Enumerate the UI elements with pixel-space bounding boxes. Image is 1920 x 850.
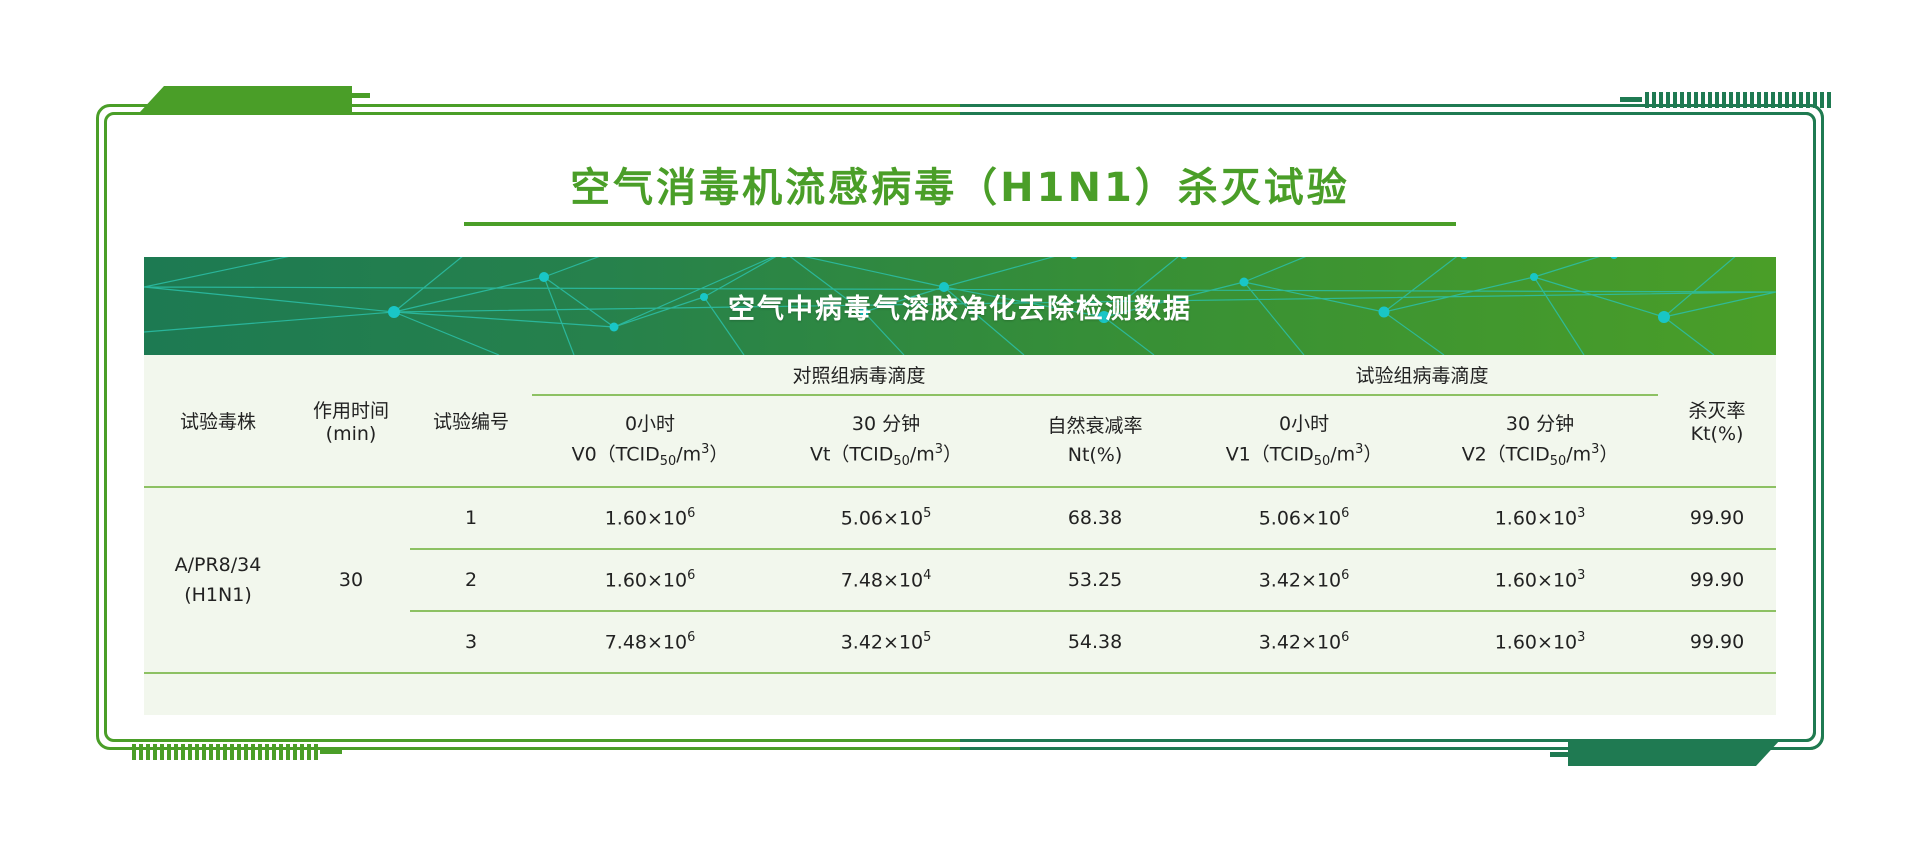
strain-line2: (H1N1) xyxy=(144,580,292,610)
cell-v2: 1.60×103 xyxy=(1422,549,1658,611)
cell-v0: 1.60×106 xyxy=(532,549,768,611)
cell-v0: 1.60×106 xyxy=(532,487,768,549)
vt-exponent: 4 xyxy=(923,568,931,583)
stripe-bottom-left-line xyxy=(320,749,342,754)
v0-exponent: 6 xyxy=(687,630,695,645)
v2-sub: 50 xyxy=(1550,454,1566,469)
th-control-vt-line2: Vt（TCID50/m3） xyxy=(768,440,1004,472)
banner: 空气中病毒气溶胶净化去除检测数据 xyxy=(144,257,1776,355)
vt-mantissa: 7.48×10 xyxy=(841,570,923,592)
v2-exponent: 3 xyxy=(1577,630,1585,645)
cell-v2: 1.60×103 xyxy=(1422,611,1658,673)
vt-mantissa: 3.42×10 xyxy=(841,632,923,654)
th-kill-rate-line2: Kt(%) xyxy=(1658,423,1776,445)
cell-strain: A/PR8/34 (H1N1) xyxy=(144,487,292,673)
v1-exponent: 6 xyxy=(1341,506,1349,521)
v0-mantissa: 7.48×10 xyxy=(605,632,687,654)
v1-mantissa: 3.42×10 xyxy=(1259,632,1341,654)
th-group-control: 对照组病毒滴度 xyxy=(532,355,1186,395)
v0-exponent: 6 xyxy=(687,506,695,521)
vt-mid: /m xyxy=(910,443,935,465)
cell-nt: 68.38 xyxy=(1004,487,1186,549)
cell-test-no: 1 xyxy=(410,487,532,549)
title-underline xyxy=(464,222,1456,226)
vt-sub: 50 xyxy=(893,454,909,469)
vt-exponent: 5 xyxy=(923,506,931,521)
v2-prefix: V2（TCID xyxy=(1462,443,1550,465)
cell-v0: 7.48×106 xyxy=(532,611,768,673)
th-test-v1-line2: V1（TCID50/m3） xyxy=(1186,440,1422,472)
cell-kt: 99.90 xyxy=(1658,549,1776,611)
th-group-test: 试验组病毒滴度 xyxy=(1186,355,1658,395)
th-test-v1-line1: 0小时 xyxy=(1186,410,1422,439)
v2-mantissa: 1.60×10 xyxy=(1495,632,1577,654)
cell-nt: 53.25 xyxy=(1004,549,1186,611)
v2-exponent: 3 xyxy=(1577,568,1585,583)
th-test-v2-line2: V2（TCID50/m3） xyxy=(1422,440,1658,472)
v1-mid: /m xyxy=(1330,443,1355,465)
v1-mantissa: 3.42×10 xyxy=(1259,570,1341,592)
v1-mantissa: 5.06×10 xyxy=(1259,508,1341,530)
v0-mid: /m xyxy=(676,443,701,465)
vt-prefix: Vt（TCID xyxy=(810,443,893,465)
cell-v2: 1.60×103 xyxy=(1422,487,1658,549)
th-duration-line1: 作用时间 xyxy=(292,396,410,423)
corner-decoration-bottom-right xyxy=(1568,740,1780,766)
th-kill-rate-line1: 杀灭率 xyxy=(1658,396,1776,423)
vt-suffix: ） xyxy=(943,443,962,465)
cell-v1: 3.42×106 xyxy=(1186,549,1422,611)
th-test-v2: 30 分钟 V2（TCID50/m3） xyxy=(1422,395,1658,487)
vt-mantissa: 5.06×10 xyxy=(841,508,923,530)
th-test-v1: 0小时 V1（TCID50/m3） xyxy=(1186,395,1422,487)
v1-sub: 50 xyxy=(1314,454,1330,469)
v1-exponent: 6 xyxy=(1341,630,1349,645)
corner-decoration-bottom-right-tail xyxy=(1550,752,1570,757)
th-strain: 试验毒株 xyxy=(144,355,292,487)
cell-kt: 99.90 xyxy=(1658,611,1776,673)
v0-exponent: 6 xyxy=(687,568,695,583)
data-table-container: 试验毒株 作用时间 (min) 试验编号 对照组病毒滴度 试验组病毒滴度 杀灭率… xyxy=(144,355,1776,715)
cell-vt: 3.42×105 xyxy=(768,611,1004,673)
strain-line1: A/PR8/34 xyxy=(144,550,292,580)
virus-kill-data-table: 试验毒株 作用时间 (min) 试验编号 对照组病毒滴度 试验组病毒滴度 杀灭率… xyxy=(144,355,1776,674)
cell-nt: 54.38 xyxy=(1004,611,1186,673)
cell-kt: 99.90 xyxy=(1658,487,1776,549)
th-control-vt-line1: 30 分钟 xyxy=(768,410,1004,439)
v2-suffix: ） xyxy=(1599,443,1618,465)
cell-vt: 7.48×104 xyxy=(768,549,1004,611)
th-control-vt: 30 分钟 Vt（TCID50/m3） xyxy=(768,395,1004,487)
cell-duration: 30 xyxy=(292,487,410,673)
cell-v1: 3.42×106 xyxy=(1186,611,1422,673)
vt-exponent: 5 xyxy=(923,630,931,645)
th-test-v2-line1: 30 分钟 xyxy=(1422,410,1658,439)
table-header-group-row: 试验毒株 作用时间 (min) 试验编号 对照组病毒滴度 试验组病毒滴度 杀灭率… xyxy=(144,355,1776,395)
corner-decoration-top-left xyxy=(140,86,352,112)
banner-title: 空气中病毒气溶胶净化去除检测数据 xyxy=(144,257,1776,355)
stripe-bar-top-right xyxy=(1645,92,1831,108)
v2-mid: /m xyxy=(1566,443,1591,465)
v1-prefix: V1（TCID xyxy=(1226,443,1314,465)
poster-root: 空气消毒机流感病毒（H1N1）杀灭试验 空气中病毒气溶胶净化去除检测数据 xyxy=(0,0,1920,850)
v0-mantissa: 1.60×10 xyxy=(605,570,687,592)
v0-prefix: V0（TCID xyxy=(572,443,660,465)
cell-vt: 5.06×105 xyxy=(768,487,1004,549)
v0-sub: 50 xyxy=(660,454,676,469)
cell-test-no: 2 xyxy=(410,549,532,611)
th-kill-rate: 杀灭率 Kt(%) xyxy=(1658,355,1776,487)
page-title: 空气消毒机流感病毒（H1N1）杀灭试验 xyxy=(0,155,1920,213)
v1-exponent: 6 xyxy=(1341,568,1349,583)
th-duration: 作用时间 (min) xyxy=(292,355,410,487)
v0-mantissa: 1.60×10 xyxy=(605,508,687,530)
th-control-v0-line2: V0（TCID50/m3） xyxy=(532,440,768,472)
table-row: A/PR8/34 (H1N1) 30 1 1.60×106 5.06×105 6… xyxy=(144,487,1776,549)
th-duration-line2: (min) xyxy=(292,423,410,445)
th-decay-line2: Nt(%) xyxy=(1004,441,1186,470)
stripe-bar-bottom-left xyxy=(132,744,318,760)
th-decay-line1: 自然衰减率 xyxy=(1004,412,1186,441)
th-control-v0-line1: 0小时 xyxy=(532,410,768,439)
table-body: A/PR8/34 (H1N1) 30 1 1.60×106 5.06×105 6… xyxy=(144,487,1776,673)
th-test-no: 试验编号 xyxy=(410,355,532,487)
stripe-top-right-line xyxy=(1620,97,1642,102)
v0-suffix: ） xyxy=(709,443,728,465)
corner-decoration-top-left-tail xyxy=(352,93,370,98)
v2-exponent: 3 xyxy=(1577,506,1585,521)
v2-mantissa: 1.60×10 xyxy=(1495,508,1577,530)
v1-suffix: ） xyxy=(1363,443,1382,465)
th-control-v0: 0小时 V0（TCID50/m3） xyxy=(532,395,768,487)
vt-sup: 3 xyxy=(935,442,943,457)
th-decay-rate: 自然衰减率 Nt(%) xyxy=(1004,395,1186,487)
v2-mantissa: 1.60×10 xyxy=(1495,570,1577,592)
cell-test-no: 3 xyxy=(410,611,532,673)
cell-v1: 5.06×106 xyxy=(1186,487,1422,549)
